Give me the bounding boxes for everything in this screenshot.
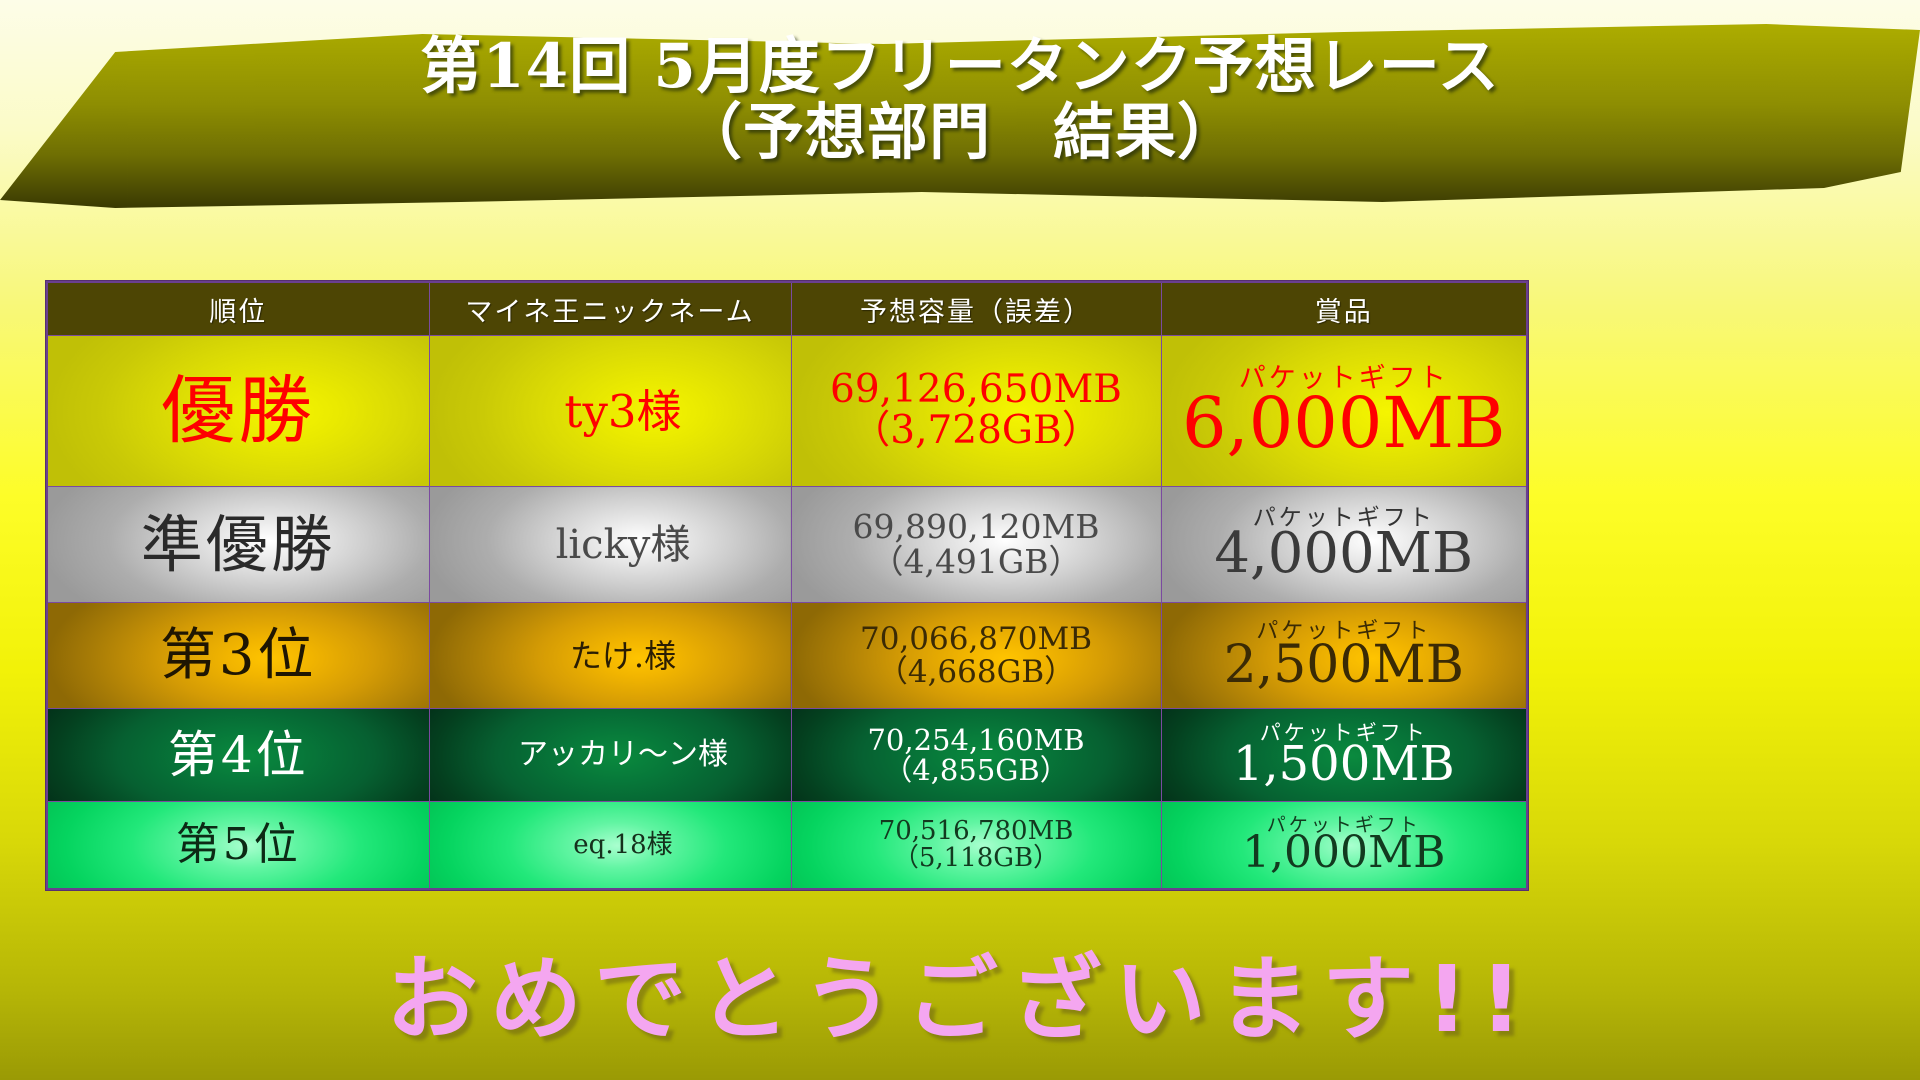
results-table: 順位 マイネ王ニックネーム 予想容量（誤差） 賞品 優勝 ty3様 69,126…: [46, 281, 1528, 890]
capacity-gb: （5,118GB）: [792, 845, 1161, 872]
prize-value: パケットギフト 1,000MB: [1161, 802, 1527, 890]
rank-label: 第3位: [47, 603, 429, 709]
capacity-gb: （3,728GB）: [792, 411, 1161, 452]
nickname-value: アッカリ〜ン様: [429, 709, 791, 802]
capacity-value: 70,066,870MB （4,668GB）: [791, 603, 1161, 709]
prize-amount: 6,000MB: [1162, 388, 1527, 458]
column-header-capacity: 予想容量（誤差）: [791, 282, 1161, 336]
rank-label: 第4位: [47, 709, 429, 802]
table-header-row: 順位 マイネ王ニックネーム 予想容量（誤差） 賞品: [47, 282, 1527, 336]
capacity-mb: 70,254,160MB: [792, 725, 1161, 755]
prize-value: パケットギフト 6,000MB: [1161, 336, 1527, 487]
capacity-mb: 70,516,780MB: [792, 818, 1161, 845]
capacity-mb: 70,066,870MB: [792, 623, 1161, 655]
rank-label: 準優勝: [47, 487, 429, 603]
capacity-gb: （4,855GB）: [792, 755, 1161, 785]
capacity-mb: 69,126,650MB: [792, 370, 1161, 411]
capacity-value: 69,890,120MB （4,491GB）: [791, 487, 1161, 603]
congratulations-message: おめでとうございます!!: [0, 925, 1920, 1058]
capacity-gb: （4,491GB）: [792, 545, 1161, 579]
prize-value: パケットギフト 1,500MB: [1161, 709, 1527, 802]
table-row: 第4位 アッカリ〜ン様 70,254,160MB （4,855GB） パケットギ…: [47, 709, 1527, 802]
column-header-nickname: マイネ王ニックネーム: [429, 282, 791, 336]
capacity-value: 70,516,780MB （5,118GB）: [791, 802, 1161, 890]
table-row: 第5位 eq.18様 70,516,780MB （5,118GB） パケットギフ…: [47, 802, 1527, 890]
table-row: 準優勝 licky様 69,890,120MB （4,491GB） パケットギフ…: [47, 487, 1527, 603]
prize-amount: 4,000MB: [1162, 526, 1527, 582]
prize-value: パケットギフト 2,500MB: [1161, 603, 1527, 709]
column-header-prize: 賞品: [1161, 282, 1527, 336]
rank-label: 優勝: [47, 336, 429, 487]
nickname-value: たけ.様: [429, 603, 791, 709]
nickname-value: eq.18様: [429, 802, 791, 890]
prize-value: パケットギフト 4,000MB: [1161, 487, 1527, 603]
capacity-mb: 69,890,120MB: [792, 510, 1161, 544]
table-body: 優勝 ty3様 69,126,650MB （3,728GB） パケットギフト 6…: [47, 336, 1527, 890]
title-banner: 第14回 5月度フリータンク予想レース （予想部門 結果）: [0, 8, 1920, 208]
table-header: 順位 マイネ王ニックネーム 予想容量（誤差） 賞品: [47, 282, 1527, 336]
prize-amount: 2,500MB: [1162, 639, 1527, 691]
table-row: 優勝 ty3様 69,126,650MB （3,728GB） パケットギフト 6…: [47, 336, 1527, 487]
table-row: 第3位 たけ.様 70,066,870MB （4,668GB） パケットギフト …: [47, 603, 1527, 709]
nickname-value: ty3様: [429, 336, 791, 487]
page-title: 第14回 5月度フリータンク予想レース （予想部門 結果）: [0, 34, 1920, 166]
prize-amount: 1,000MB: [1162, 831, 1527, 875]
column-header-rank: 順位: [47, 282, 429, 336]
nickname-value: licky様: [429, 487, 791, 603]
prize-amount: 1,500MB: [1162, 740, 1527, 788]
capacity-gb: （4,668GB）: [792, 656, 1161, 688]
capacity-value: 70,254,160MB （4,855GB）: [791, 709, 1161, 802]
rank-label: 第5位: [47, 802, 429, 890]
capacity-value: 69,126,650MB （3,728GB）: [791, 336, 1161, 487]
